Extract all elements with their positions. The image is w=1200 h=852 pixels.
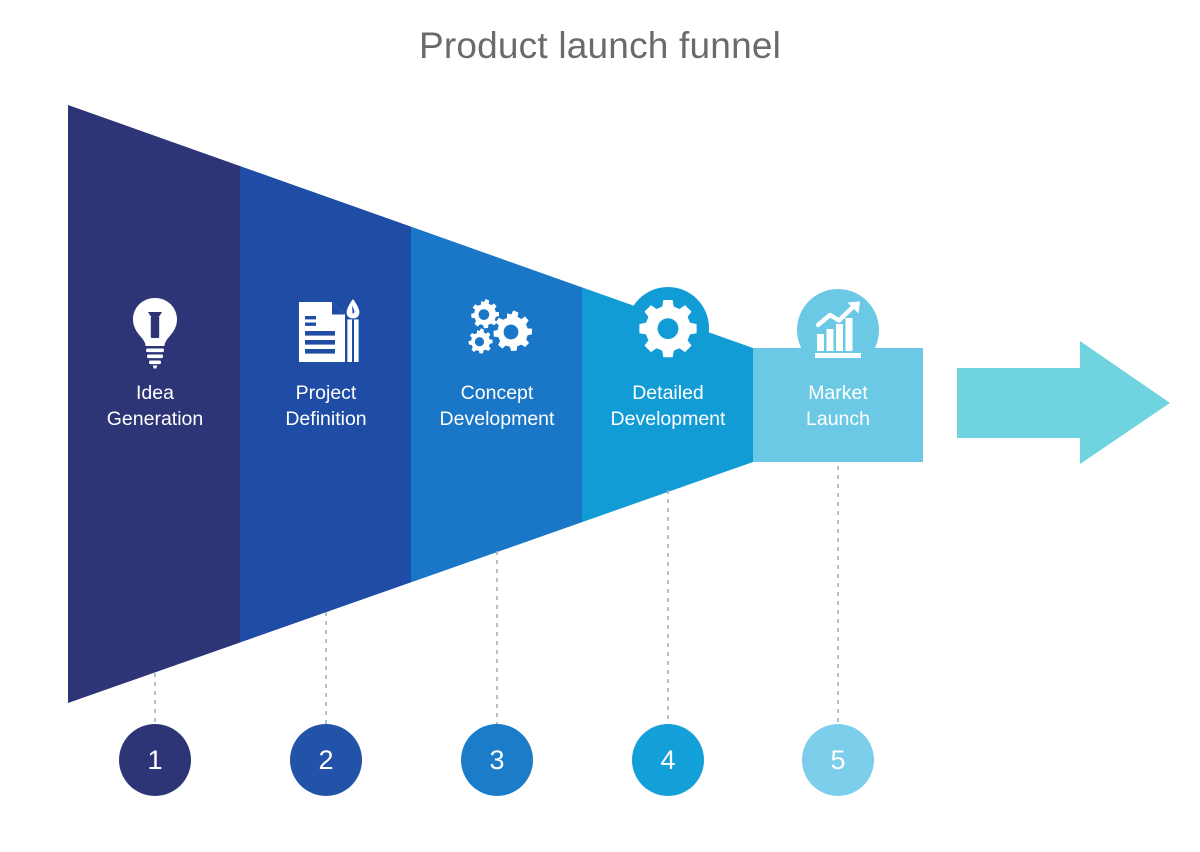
funnel-segment-5[interactable] [753, 348, 923, 462]
gear-icon [639, 300, 696, 357]
diagram-stage: Product launch funnel [0, 0, 1200, 852]
stage-number-1-text: 1 [147, 745, 162, 776]
funnel-body [60, 90, 762, 730]
funnel-segment-1[interactable] [60, 90, 240, 730]
stage-number-3[interactable]: 3 [461, 724, 533, 796]
funnel-graphic [0, 0, 1200, 852]
document-pen-icon [299, 299, 359, 362]
stage-number-5[interactable]: 5 [802, 724, 874, 796]
stage-number-2[interactable]: 2 [290, 724, 362, 796]
stage-number-4[interactable]: 4 [632, 724, 704, 796]
funnel-segment-4[interactable] [582, 90, 762, 730]
forward-arrow[interactable] [957, 341, 1170, 464]
stage-number-4-text: 4 [660, 745, 675, 776]
stage-number-2-text: 2 [318, 745, 333, 776]
stage-number-5-text: 5 [830, 745, 845, 776]
stage-number-3-text: 3 [489, 745, 504, 776]
stage-number-1[interactable]: 1 [119, 724, 191, 796]
